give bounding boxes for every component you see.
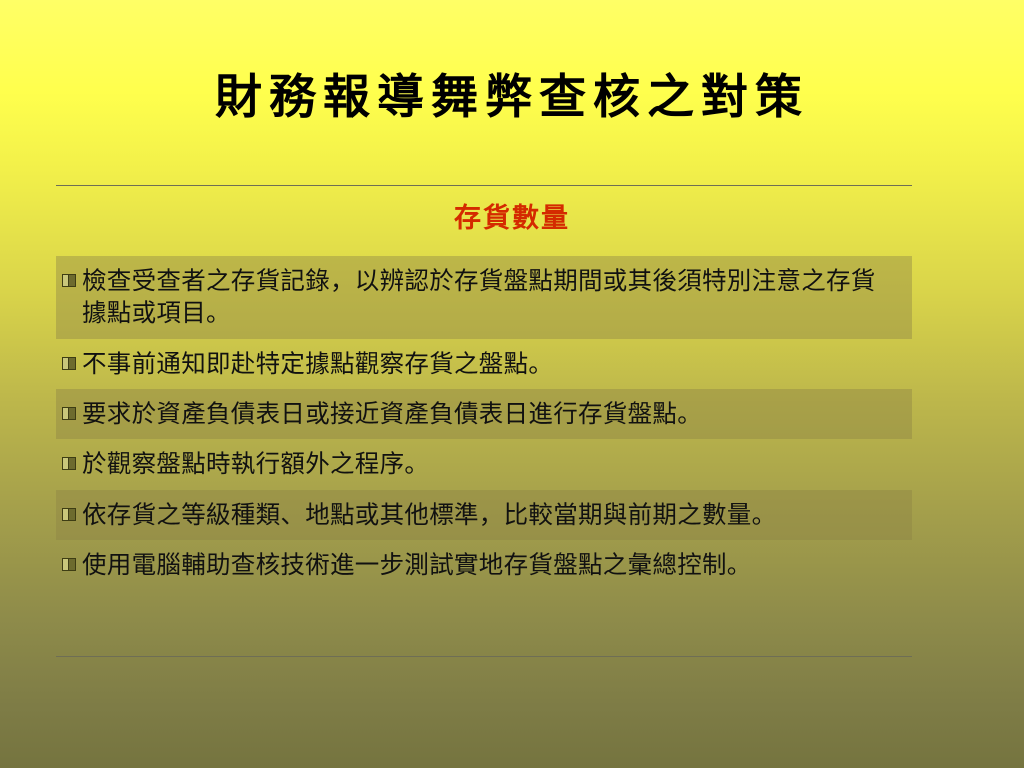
list-item: 要求於資產負債表日或接近資產負債表日進行存貨盤點。 xyxy=(56,389,912,439)
bullet-list: 檢查受查者之存貨記錄，以辨認於存貨盤點期間或其後須特別注意之存貨據點或項目。 不… xyxy=(56,256,912,590)
list-item-text: 依存貨之等級種類、地點或其他標準，比較當期與前期之數量。 xyxy=(82,499,784,531)
filled-square-bullet-icon xyxy=(60,555,80,575)
list-item: 不事前通知即赴特定據點觀察存貨之盤點。 xyxy=(56,339,912,389)
slide-title: 財務報導舞弊查核之對策 xyxy=(0,58,1024,127)
filled-square-bullet-icon xyxy=(60,404,80,424)
filled-square-bullet-icon xyxy=(60,505,80,525)
list-item: 使用電腦輔助查核技術進一步測試實地存貨盤點之彙總控制。 xyxy=(56,540,912,590)
list-item-text: 於觀察盤點時執行額外之程序。 xyxy=(82,448,437,480)
list-item-text: 要求於資產負債表日或接近資產負債表日進行存貨盤點。 xyxy=(82,398,710,430)
list-item-text: 檢查受查者之存貨記錄，以辨認於存貨盤點期間或其後須特別注意之存貨據點或項目。 xyxy=(82,265,906,330)
list-item-text: 使用電腦輔助查核技術進一步測試實地存貨盤點之彙總控制。 xyxy=(82,549,760,581)
filled-square-bullet-icon xyxy=(60,354,80,374)
list-item: 依存貨之等級種類、地點或其他標準，比較當期與前期之數量。 xyxy=(56,490,912,540)
list-item: 檢查受查者之存貨記錄，以辨認於存貨盤點期間或其後須特別注意之存貨據點或項目。 xyxy=(56,256,912,339)
slide-subtitle: 存貨數量 xyxy=(0,196,1024,235)
divider-top xyxy=(56,185,912,186)
filled-square-bullet-icon xyxy=(60,454,80,474)
filled-square-bullet-icon xyxy=(60,271,80,291)
list-item-text: 不事前通知即赴特定據點觀察存貨之盤點。 xyxy=(82,348,561,380)
list-item: 於觀察盤點時執行額外之程序。 xyxy=(56,439,912,489)
slide-canvas: 財務報導舞弊查核之對策 存貨數量 檢查受查者之存貨記錄，以辨認於存貨盤點期間或其… xyxy=(0,0,1024,768)
divider-bottom xyxy=(56,656,912,657)
